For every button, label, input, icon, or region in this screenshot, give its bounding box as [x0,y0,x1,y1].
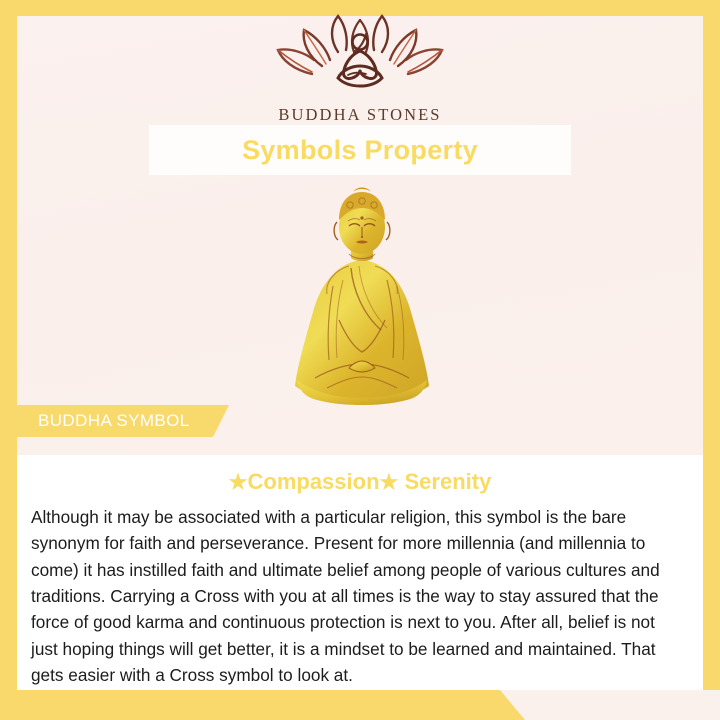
promo-graphic: BUDDHA STONES Symbols Property [0,0,720,720]
body-paragraph: Although it may be associated with a par… [17,495,703,688]
badge-label: BUDDHA SYMBOL [38,411,190,431]
star-icon-1: ★ [229,471,248,494]
title-banner: Symbols Property [150,126,570,174]
frame-bottom-band [0,690,525,720]
brand-logo: BUDDHA STONES [0,8,720,125]
content-subtitle: ★Compassion★ Serenity [17,455,703,495]
subtitle-word-compassion: Compassion [248,469,380,494]
seated-buddha-statue [287,182,437,412]
subtitle-word-serenity: Serenity [404,469,491,494]
star-icon-2: ★ [380,471,399,494]
frame-bottom-pink-wedge [490,690,720,720]
brand-name: BUDDHA STONES [278,105,441,125]
badge-ribbon: BUDDHA SYMBOL [17,405,229,437]
page-title: Symbols Property [242,135,478,166]
lotus-meditation-icon [260,8,460,99]
content-panel: ★Compassion★ Serenity Although it may be… [17,455,703,690]
